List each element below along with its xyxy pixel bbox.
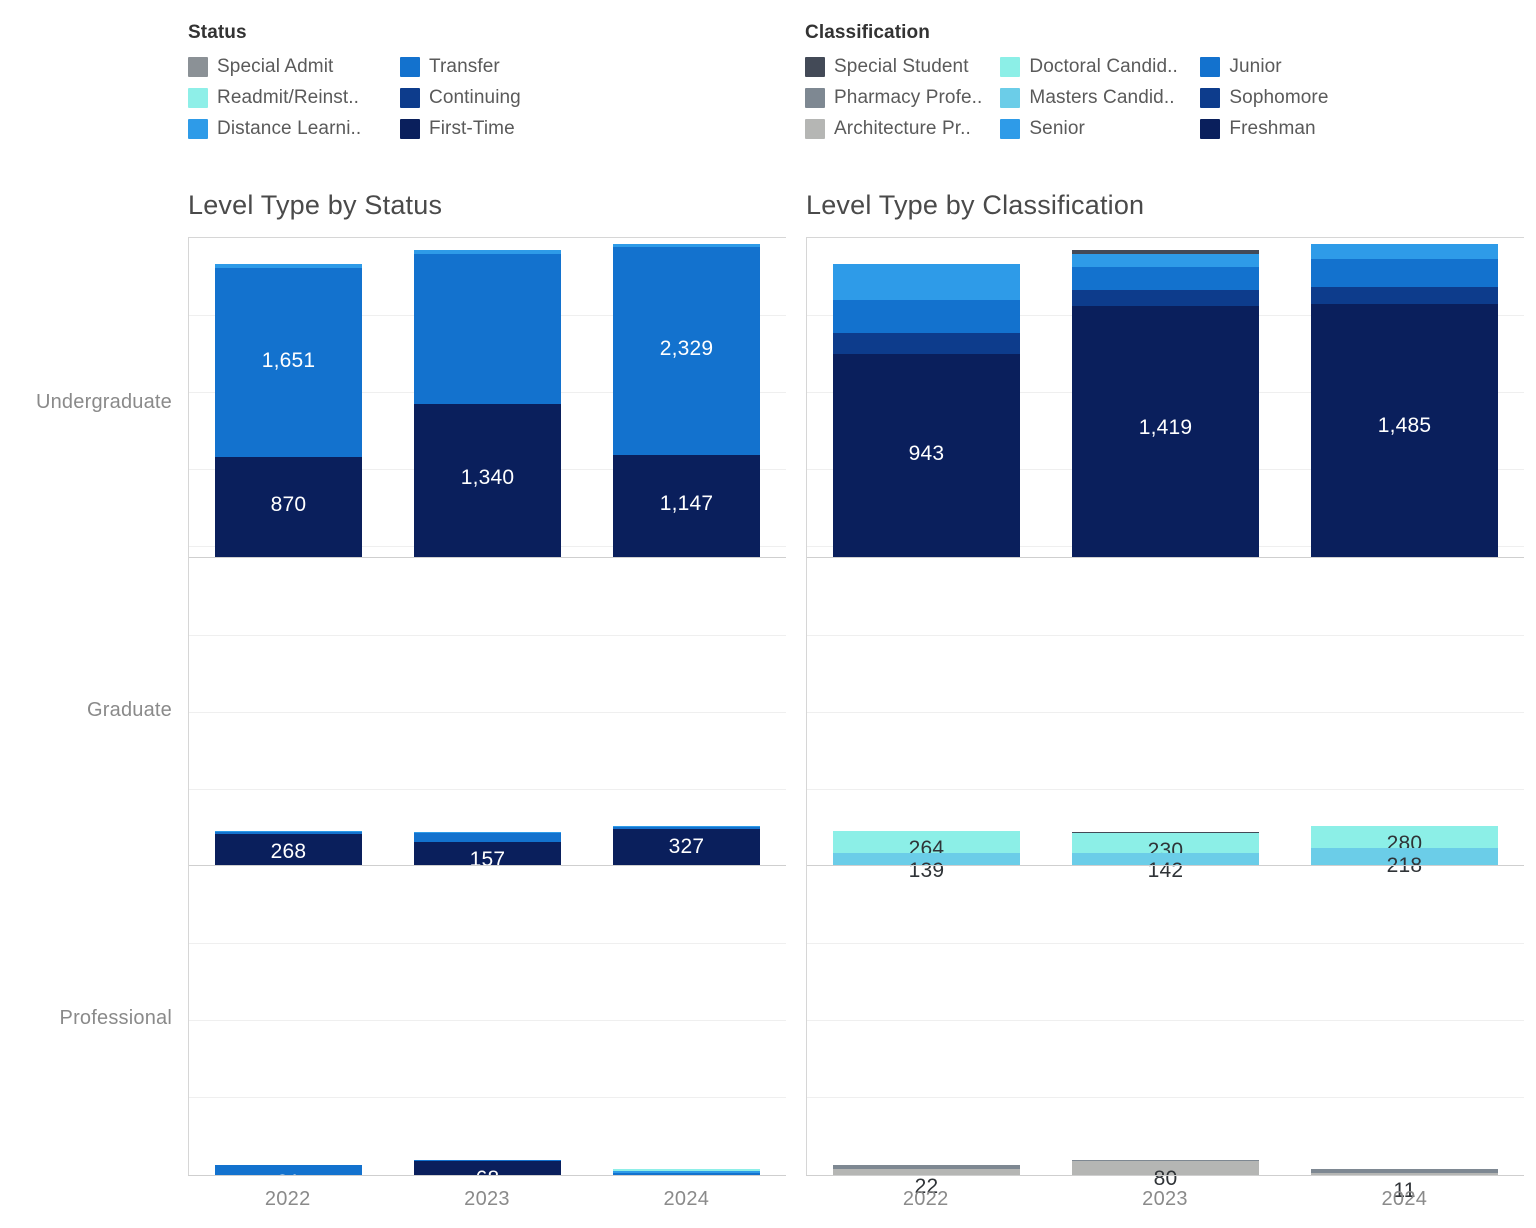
bar-segment[interactable]: 80 (1072, 1161, 1258, 1176)
bar-segment[interactable] (1311, 244, 1497, 259)
legend-item[interactable]: Senior (1000, 113, 1182, 144)
legend-item[interactable]: Readmit/Reinst.. (188, 82, 378, 113)
bar-segment[interactable]: 218 (1311, 848, 1497, 865)
bar-group: 316810 (189, 866, 786, 1176)
legend-item[interactable]: Masters Candid.. (1000, 82, 1182, 113)
bar-slot: 157 (388, 558, 587, 865)
bar-segment[interactable] (414, 833, 561, 842)
legend-item-label: Transfer (429, 56, 500, 78)
row-label-undergraduate: Undergraduate (0, 391, 172, 414)
chart-panel-level-type-by-classification: Level Type by Classification 9431,4191,4… (806, 190, 1524, 1175)
plot-area: 9431,4191,485264139230142280218228011 (806, 237, 1524, 1175)
legend-swatch-icon (188, 119, 208, 139)
bar-slot: 80 (1046, 866, 1285, 1176)
legend-item-label: Continuing (429, 87, 521, 109)
legend-column: JuniorSophomoreFreshman (1200, 51, 1328, 144)
legend-column: Special StudentPharmacy Profe..Architect… (805, 51, 982, 144)
stacked-bar[interactable]: 1,419 (1072, 250, 1258, 557)
bar-segment[interactable]: 1,651 (215, 268, 362, 457)
legend-item[interactable]: Pharmacy Profe.. (805, 82, 982, 113)
chart-title: Level Type by Classification (806, 190, 1524, 221)
bar-slot: 2,3291,147 (587, 238, 786, 557)
bar-value-label: 1,651 (215, 349, 362, 373)
legend-swatch-icon (188, 88, 208, 108)
bar-group: 264139230142280218 (807, 558, 1524, 865)
plot-area: 1,6518701,3402,3291,147268157327316810 (188, 237, 786, 1175)
legend-item-label: Junior (1229, 56, 1281, 78)
bar-segment[interactable]: 280 (1311, 826, 1497, 848)
stacked-bar[interactable]: 1,651870 (215, 264, 362, 557)
bar-value-label: 1,340 (414, 466, 561, 490)
bar-value-label: 327 (613, 835, 760, 859)
legend-swatch-icon (805, 88, 825, 108)
stacked-bar[interactable]: 264139 (833, 831, 1019, 865)
legend-status: Status Special AdmitReadmit/Reinst..Dist… (188, 22, 521, 144)
bar-slot: 31 (189, 866, 388, 1176)
legend-item-label: Architecture Pr.. (834, 118, 971, 140)
bar-slot: 268 (189, 558, 388, 865)
bar-segment[interactable] (1072, 254, 1258, 267)
legend-item-label: Pharmacy Profe.. (834, 87, 982, 109)
bar-group: 228011 (807, 866, 1524, 1176)
bar-segment[interactable] (833, 333, 1019, 355)
legend-item-label: Masters Candid.. (1029, 87, 1174, 109)
chart-row-graduate: 268157327 (189, 557, 786, 865)
stacked-bar[interactable]: 268 (215, 831, 362, 865)
legend-item[interactable]: Special Student (805, 51, 982, 82)
bar-slot: 230142 (1046, 558, 1285, 865)
x-axis: 202220232024 (188, 1175, 786, 1211)
dashboard-root: Status Special AdmitReadmit/Reinst..Dist… (0, 0, 1536, 1228)
legend-swatch-icon (1200, 88, 1220, 108)
bar-slot: 264139 (807, 558, 1046, 865)
x-axis-tick-2024[interactable]: 2024 (587, 1176, 786, 1211)
legend-swatch-icon (400, 57, 420, 77)
chart-title: Level Type by Status (188, 190, 786, 221)
legend-column: Doctoral Candid..Masters Candid..Senior (1000, 51, 1182, 144)
bar-slot: 11 (1285, 866, 1524, 1176)
bar-segment[interactable] (1072, 290, 1258, 306)
bar-segment[interactable]: 139 (833, 853, 1019, 865)
bar-segment[interactable]: 1,485 (1311, 304, 1497, 557)
chart-row-professional: 228011 (807, 865, 1524, 1176)
legend-item[interactable]: Junior (1200, 51, 1328, 82)
legend-swatch-icon (1200, 119, 1220, 139)
legend-item[interactable]: Special Admit (188, 51, 378, 82)
legend-item[interactable]: Freshman (1200, 113, 1328, 144)
bar-value-label: 2,329 (613, 337, 760, 361)
legend-item-label: Special Admit (217, 56, 333, 78)
bar-slot: 68 (388, 866, 587, 1176)
legend-item-label: Freshman (1229, 118, 1315, 140)
legend-classification-grid: Special StudentPharmacy Profe..Architect… (805, 51, 1329, 144)
legend-swatch-icon (1000, 119, 1020, 139)
row-label-professional: Professional (0, 1007, 172, 1030)
bar-value-label: 1,485 (1311, 414, 1497, 438)
legend-item-label: Readmit/Reinst.. (217, 87, 359, 109)
legend-swatch-icon (805, 119, 825, 139)
bar-value-label: 268 (215, 840, 362, 864)
x-axis-tick-2023[interactable]: 2023 (387, 1176, 586, 1211)
bar-segment[interactable] (833, 264, 1019, 301)
legend-item[interactable]: Distance Learni.. (188, 113, 378, 144)
stacked-bar[interactable]: 68 (414, 1160, 561, 1176)
bar-value-label: 1,147 (613, 492, 760, 516)
x-axis-tick-2023[interactable]: 2023 (1045, 1176, 1284, 1211)
row-label-graduate: Graduate (0, 699, 172, 722)
legend-item-label: Doctoral Candid.. (1029, 56, 1178, 78)
bar-segment[interactable]: 264 (833, 831, 1019, 853)
stacked-bar[interactable]: 2,3291,147 (613, 244, 760, 557)
bar-segment[interactable] (833, 300, 1019, 332)
legend-column: TransferContinuingFirst-Time (400, 51, 521, 144)
stacked-bar[interactable]: 230142 (1072, 832, 1258, 865)
bar-segment[interactable]: 2,329 (613, 247, 760, 455)
bar-slot: 1,340 (388, 238, 587, 557)
legend-classification-title: Classification (805, 22, 1329, 44)
bar-value-label: 1,419 (1072, 416, 1258, 440)
legend-item-label: Distance Learni.. (217, 118, 361, 140)
bar-segment[interactable]: 1,419 (1072, 306, 1258, 557)
bar-slot: 22 (807, 866, 1046, 1176)
bar-segment[interactable]: 943 (833, 354, 1019, 557)
stacked-bar[interactable]: 80 (1072, 1160, 1258, 1176)
bar-segment[interactable]: 230 (1072, 833, 1258, 853)
legend-item-label: First-Time (429, 118, 515, 140)
bar-segment[interactable]: 870 (215, 457, 362, 557)
bar-group: 1,6518701,3402,3291,147 (189, 238, 786, 557)
chart-row-professional: 316810 (189, 865, 786, 1176)
legend-swatch-icon (188, 57, 208, 77)
bar-slot: 280218 (1285, 558, 1524, 865)
chart-row-undergraduate: 9431,4191,485 (807, 238, 1524, 557)
legend-swatch-icon (400, 88, 420, 108)
bar-segment[interactable]: 142 (1072, 853, 1258, 865)
bar-slot: 327 (587, 558, 786, 865)
x-axis: 202220232024 (806, 1175, 1524, 1211)
legend-classification: Classification Special StudentPharmacy P… (805, 22, 1329, 144)
legend-swatch-icon (1200, 57, 1220, 77)
legend-status-title: Status (188, 22, 521, 44)
legend-item[interactable]: Transfer (400, 51, 521, 82)
bar-slot: 1,651870 (189, 238, 388, 557)
bar-segment[interactable]: 268 (215, 834, 362, 865)
bar-segment[interactable]: 1,340 (414, 404, 561, 557)
legend-item[interactable]: Architecture Pr.. (805, 113, 982, 144)
chart-row-graduate: 264139230142280218 (807, 557, 1524, 865)
bar-segment[interactable]: 68 (414, 1161, 561, 1176)
stacked-bar[interactable]: 327 (613, 826, 760, 866)
bar-value-label: 870 (215, 493, 362, 517)
legend-swatch-icon (1000, 88, 1020, 108)
stacked-bar[interactable]: 1,485 (1311, 244, 1497, 557)
bar-group: 268157327 (189, 558, 786, 865)
bar-segment[interactable] (1311, 287, 1497, 304)
legend-swatch-icon (1000, 57, 1020, 77)
bar-slot: 1,485 (1285, 238, 1524, 557)
legend-item-label: Special Student (834, 56, 969, 78)
legend-item[interactable]: Doctoral Candid.. (1000, 51, 1182, 82)
legend-item[interactable]: Sophomore (1200, 82, 1328, 113)
legend-item[interactable]: First-Time (400, 113, 521, 144)
stacked-bar[interactable]: 1,340 (414, 250, 561, 557)
legend-status-grid: Special AdmitReadmit/Reinst..Distance Le… (188, 51, 521, 144)
bar-segment[interactable]: 1,147 (613, 455, 760, 557)
x-axis-tick-2022[interactable]: 2022 (806, 1176, 1045, 1211)
legend-column: Special AdmitReadmit/Reinst..Distance Le… (188, 51, 378, 144)
legend-item[interactable]: Continuing (400, 82, 521, 113)
stacked-bar[interactable]: 943 (833, 264, 1019, 557)
bar-segment[interactable] (1072, 267, 1258, 290)
bar-slot: 943 (807, 238, 1046, 557)
bar-slot: 10 (587, 866, 786, 1176)
legend-item-label: Senior (1029, 118, 1085, 140)
bar-slot: 1,419 (1046, 238, 1285, 557)
bar-segment[interactable] (414, 254, 561, 404)
bar-segment[interactable]: 157 (414, 842, 561, 865)
bar-segment[interactable] (1311, 259, 1497, 286)
x-axis-tick-2022[interactable]: 2022 (188, 1176, 387, 1211)
stacked-bar[interactable]: 157 (414, 832, 561, 865)
bar-group: 9431,4191,485 (807, 238, 1524, 557)
legend-swatch-icon (805, 57, 825, 77)
legend-swatch-icon (400, 119, 420, 139)
legend-item-label: Sophomore (1229, 87, 1328, 109)
stacked-bar[interactable]: 280218 (1311, 826, 1497, 866)
bar-value-label: 943 (833, 442, 1019, 466)
bar-segment[interactable]: 327 (613, 829, 760, 865)
x-axis-tick-2024[interactable]: 2024 (1285, 1176, 1524, 1211)
chart-panel-level-type-by-status: Level Type by Status 1,6518701,3402,3291… (188, 190, 786, 1175)
chart-row-undergraduate: 1,6518701,3402,3291,147 (189, 238, 786, 557)
